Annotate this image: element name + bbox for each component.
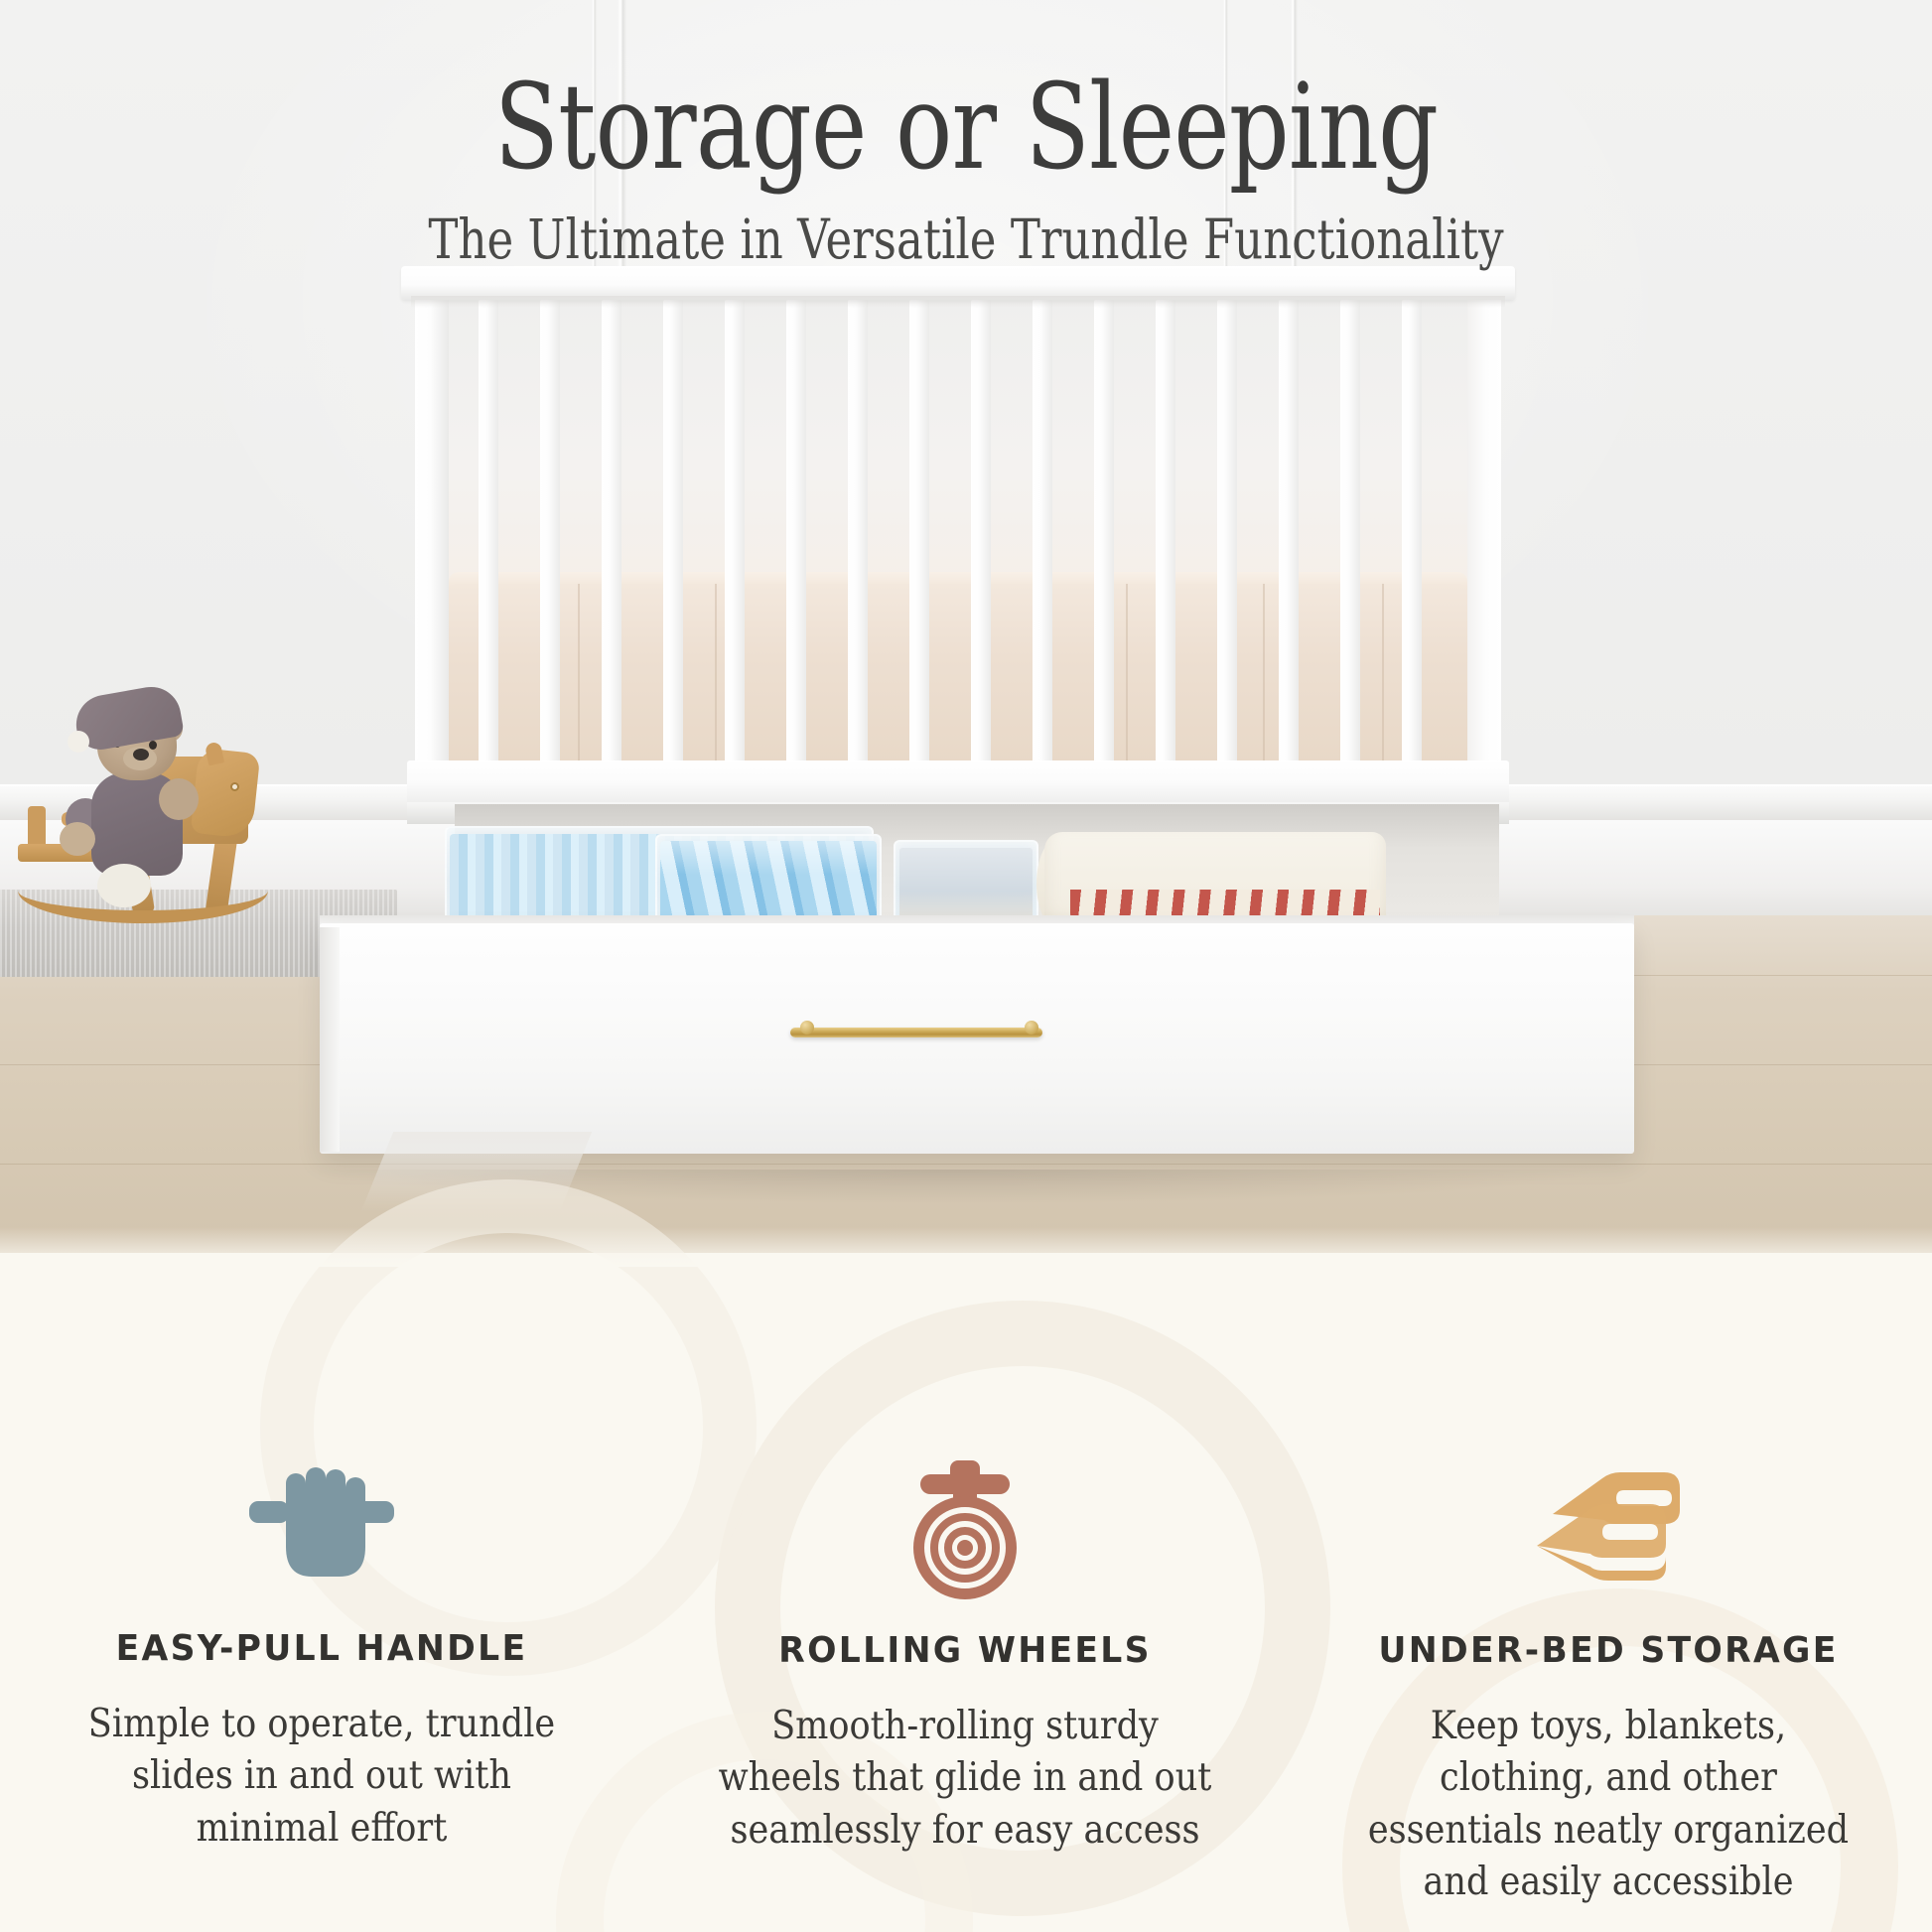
crib-top-rail [401, 266, 1515, 300]
feature-list: EASY-PULL HANDLE Simple to operate, trun… [0, 1467, 1932, 1908]
crib-corner-post [1467, 266, 1501, 822]
feature-body: Simple to operate, trundle slides in and… [63, 1699, 581, 1855]
feature-title: ROLLING WHEELS [689, 1630, 1242, 1671]
brass-handle-post [800, 1021, 814, 1035]
teddy-nightcap-pompom [68, 731, 89, 753]
rocking-horse-head [191, 748, 261, 839]
teddy-paw [60, 822, 95, 856]
rocking-horse-eye [230, 782, 239, 791]
feature-easy-pull-handle: EASY-PULL HANDLE Simple to operate, trun… [0, 1465, 643, 1908]
brass-handle-post [1025, 1021, 1038, 1035]
teddy-eye [149, 741, 157, 750]
page-title: Storage or Sleeping [194, 69, 1739, 188]
brass-drawer-handle[interactable] [790, 1028, 1042, 1037]
folded-blankets-icon [1320, 1467, 1896, 1596]
feature-body: Keep toys, blankets, clothing, and other… [1349, 1701, 1867, 1908]
section-fade [0, 1227, 1932, 1267]
feature-body: Smooth-rolling sturdy wheels that glide … [706, 1701, 1224, 1857]
feature-title: UNDER-BED STORAGE [1332, 1630, 1885, 1671]
crib-corner-post [415, 266, 449, 822]
header: Storage or Sleeping The Ultimate in Vers… [0, 0, 1932, 270]
caster-wheel-icon [677, 1467, 1253, 1596]
rocking-horse-ear [205, 742, 224, 766]
trundle-drawer-front [320, 923, 1634, 1154]
trundle-drawer-front-group [393, 804, 1561, 1181]
feature-title: EASY-PULL HANDLE [46, 1628, 599, 1669]
feature-rolling-wheels: ROLLING WHEELS Smooth-rolling sturdy whe… [643, 1467, 1287, 1908]
hand-pull-handle-icon [34, 1465, 610, 1594]
page-subtitle: The Ultimate in Versatile Trundle Functi… [174, 209, 1758, 270]
convertible-crib [401, 266, 1515, 822]
product-feature-page: Storage or Sleeping The Ultimate in Vers… [0, 0, 1932, 1932]
teddy-nose [133, 749, 149, 760]
trundle-drawer-side [320, 927, 340, 1152]
feature-under-bed-storage: UNDER-BED STORAGE Keep toys, blankets, c… [1287, 1467, 1930, 1908]
teddy-arm [159, 778, 199, 820]
rocking-horse-with-teddy-bear [0, 695, 268, 943]
teddy-foot [97, 864, 151, 907]
